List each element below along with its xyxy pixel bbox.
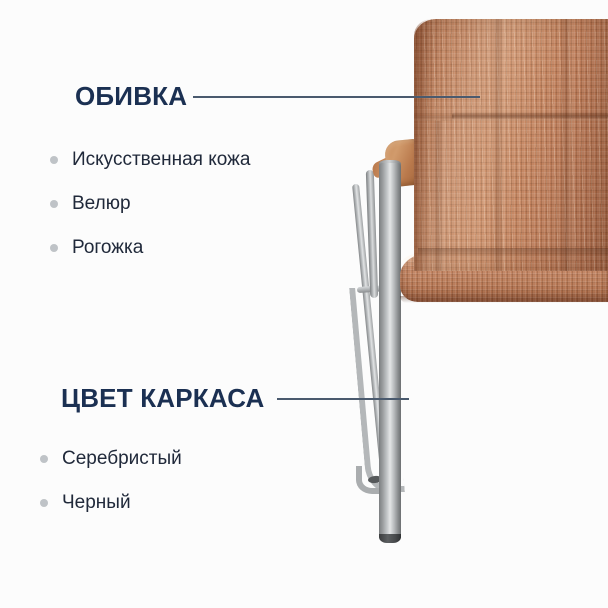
armrest-support-loop bbox=[349, 288, 405, 492]
backrest-seat-gap-shadow bbox=[418, 248, 608, 258]
bullet-icon bbox=[50, 244, 58, 252]
bullet-icon bbox=[40, 499, 48, 507]
front-leg-foot bbox=[379, 534, 401, 543]
armrest-support-upright bbox=[366, 170, 378, 298]
list-item-label: Велюр bbox=[72, 193, 131, 215]
bullet-icon bbox=[50, 156, 58, 164]
leader-line-upholstery bbox=[193, 96, 480, 98]
list-item: Искусственная кожа bbox=[50, 138, 250, 182]
callout-heading-frame-color: ЦВЕТ КАРКАСА bbox=[61, 385, 265, 411]
leader-line-frame-color bbox=[277, 398, 409, 400]
list-item-label: Рогожка bbox=[72, 237, 143, 259]
callout-list-upholstery: Искусственная кожа Велюр Рогожка bbox=[50, 138, 250, 270]
armrest-support-loop-cap bbox=[368, 475, 383, 483]
backrest-fold-3 bbox=[432, 121, 448, 271]
armrest-cap-tail bbox=[371, 155, 394, 180]
armrest-support-loop-diagonal bbox=[352, 184, 388, 483]
seat-cushion bbox=[400, 254, 608, 302]
product-callout-canvas: ОБИВКА Искусственная кожа Велюр Рогожка … bbox=[0, 0, 608, 608]
callout-list-frame-color: Серебристый Черный bbox=[40, 437, 182, 525]
callout-heading-upholstery: ОБИВКА bbox=[75, 83, 187, 109]
front-leg bbox=[379, 163, 401, 540]
seat-cushion-shadow bbox=[400, 296, 608, 303]
backrest-cushion bbox=[414, 19, 608, 271]
list-item: Черный bbox=[40, 481, 182, 525]
list-item: Серебристый bbox=[40, 437, 182, 481]
backrest-seam-short bbox=[414, 113, 454, 121]
bullet-icon bbox=[40, 455, 48, 463]
list-item-label: Серебристый bbox=[62, 448, 182, 470]
backrest-sheen bbox=[414, 19, 608, 271]
front-leg-top-cap bbox=[379, 160, 401, 168]
armrest-support-loop-bottom bbox=[356, 466, 390, 494]
backrest-fold-1 bbox=[492, 19, 508, 271]
armrest-cap bbox=[384, 138, 425, 188]
backrest-fold-2 bbox=[560, 19, 576, 271]
backrest-left-edge-shadow bbox=[414, 19, 432, 271]
list-item: Велюр bbox=[50, 182, 250, 226]
list-item-label: Искусственная кожа bbox=[72, 149, 250, 171]
armrest-support-loop-upper bbox=[357, 285, 389, 293]
bullet-icon bbox=[50, 200, 58, 208]
seat-cushion-highlight bbox=[400, 254, 608, 268]
backrest-seam bbox=[452, 112, 608, 121]
list-item-label: Черный bbox=[62, 492, 131, 514]
list-item: Рогожка bbox=[50, 226, 250, 270]
